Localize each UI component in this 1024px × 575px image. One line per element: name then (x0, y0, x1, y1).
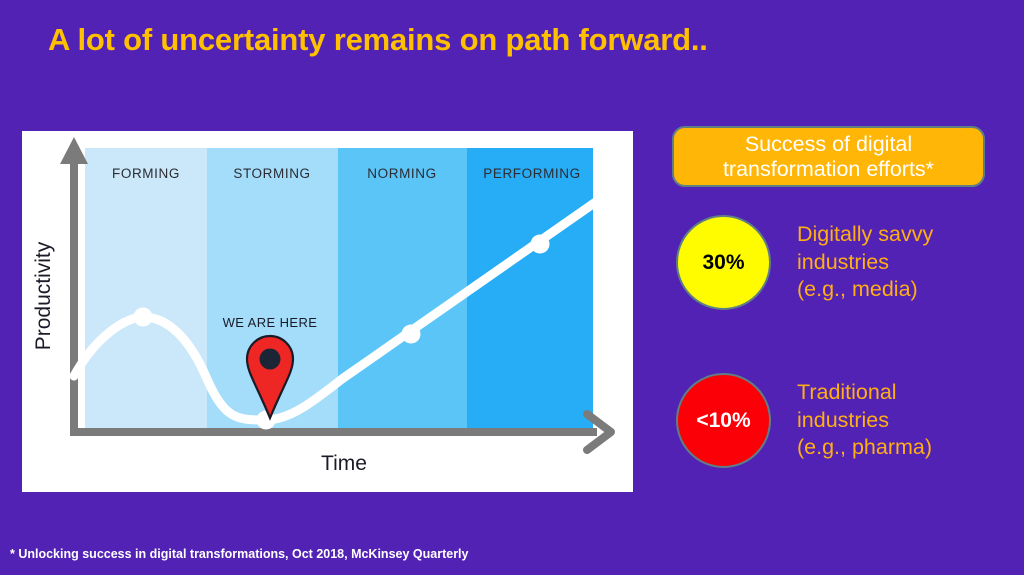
curve-point-forming (134, 308, 153, 327)
source-footnote: * Unlocking success in digital transform… (10, 547, 468, 561)
stage-label-storming: STORMING (233, 166, 310, 181)
stage-band-norming (338, 148, 467, 429)
stage-band-forming (85, 148, 207, 429)
x-axis-title: Time (321, 452, 367, 475)
panel-header: Success of digital transformation effort… (672, 126, 985, 187)
page-title: A lot of uncertainty remains on path for… (48, 22, 708, 58)
y-axis-title: Productivity (32, 241, 55, 350)
stat-bubble-under-10-percent: <10% (676, 373, 771, 468)
stage-band-performing (467, 148, 593, 429)
we-are-here-label: WE ARE HERE (223, 315, 318, 330)
y-axis (60, 137, 88, 432)
stat-line: industries (797, 249, 933, 277)
stat-line: (e.g., pharma) (797, 434, 932, 462)
stage-label-norming: NORMING (367, 166, 436, 181)
stat-line: Digitally savvy (797, 221, 933, 249)
stage-label-performing: PERFORMING (483, 166, 581, 181)
stat-line: (e.g., media) (797, 276, 933, 304)
stat-row-digitally-savvy: 30% Digitally savvy industries (e.g., me… (676, 215, 933, 310)
stat-description-digitally-savvy: Digitally savvy industries (e.g., media) (797, 221, 933, 304)
stat-line: industries (797, 407, 932, 435)
stage-label-forming: FORMING (112, 166, 180, 181)
curve-point-norming (402, 325, 421, 344)
stat-description-traditional: Traditional industries (e.g., pharma) (797, 379, 932, 462)
stat-row-traditional: <10% Traditional industries (e.g., pharm… (676, 373, 932, 468)
stat-line: Traditional (797, 379, 932, 407)
chart-card: FORMING STORMING NORMING PERFORMING WE A… (22, 131, 633, 492)
team-stages-chart: FORMING STORMING NORMING PERFORMING WE A… (22, 131, 633, 492)
stat-bubble-30-percent: 30% (676, 215, 771, 310)
curve-point-performing (531, 235, 550, 254)
